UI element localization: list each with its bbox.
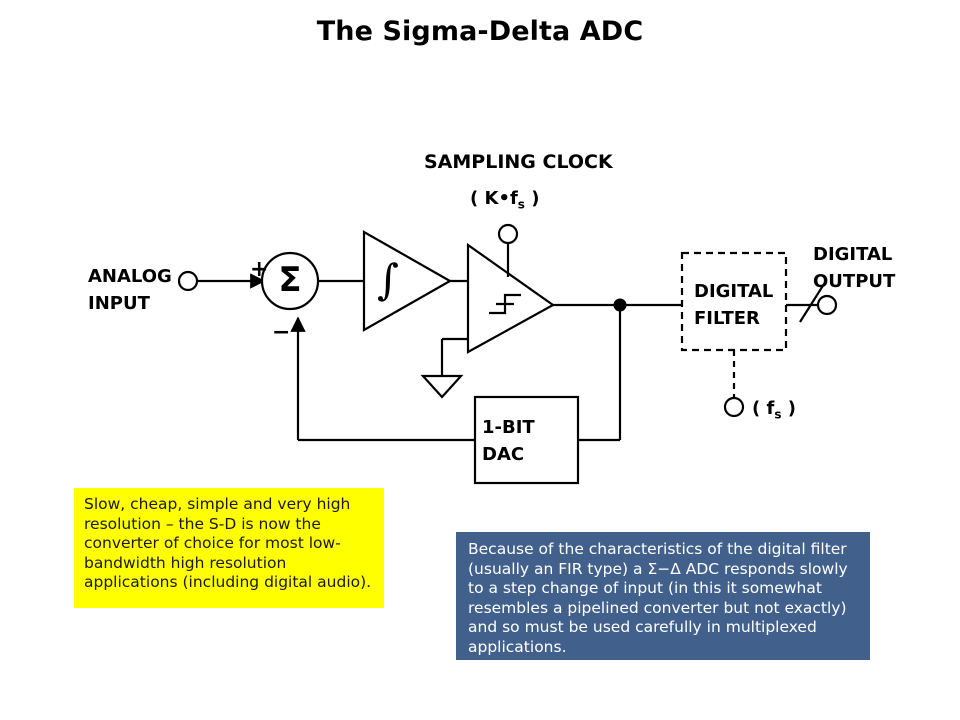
summing-junction-symbol: Σ <box>266 256 314 304</box>
one-bit-dac-label: 1-BIT DAC <box>482 414 535 468</box>
callout-blue: Because of the characteristics of the di… <box>456 532 870 660</box>
dac-label-line2: DAC <box>482 441 535 468</box>
slide-canvas: The Sigma-Delta ADC <box>0 0 960 720</box>
summing-minus-sign: − <box>272 320 290 345</box>
digital-output-label: DIGITAL OUTPUT <box>813 241 895 295</box>
integrator-symbol: ∫ <box>372 252 404 308</box>
ground-icon <box>423 376 461 397</box>
clock-freq-suffix: ) <box>525 188 540 209</box>
digital-filter-label-line1: DIGITAL <box>694 281 773 302</box>
clock-freq-subscript: s <box>518 198 525 212</box>
digital-filter-label: DIGITAL FILTER <box>694 278 773 332</box>
dac-label-line1: 1-BIT <box>482 417 535 438</box>
summing-plus-sign: + <box>250 257 268 282</box>
sampling-clock-label: SAMPLING CLOCK <box>424 149 613 176</box>
digital-filter-label-line2: FILTER <box>694 305 773 332</box>
digital-output-label-line1: DIGITAL <box>813 244 892 265</box>
analog-input-label: ANALOG INPUT <box>88 263 172 317</box>
output-rate-terminal-icon <box>725 398 743 416</box>
digital-output-label-line2: OUTPUT <box>813 268 895 295</box>
comparator-threshold-icon <box>487 285 527 325</box>
analog-input-label-line2: INPUT <box>88 290 172 317</box>
sampling-clock-frequency-label: ( K•fs ) <box>470 185 539 219</box>
sampling-clock-terminal-icon <box>499 225 517 243</box>
output-rate-label: ( fs ) <box>752 395 796 429</box>
clock-freq-prefix: ( K•f <box>470 188 518 209</box>
output-rate-prefix: ( f <box>752 398 774 419</box>
analog-input-terminal-icon <box>179 272 197 290</box>
digital-output-terminal-icon <box>818 296 836 314</box>
callout-yellow: Slow, cheap, simple and very high resolu… <box>74 488 384 608</box>
output-rate-suffix: ) <box>781 398 796 419</box>
analog-input-label-line1: ANALOG <box>88 266 172 287</box>
